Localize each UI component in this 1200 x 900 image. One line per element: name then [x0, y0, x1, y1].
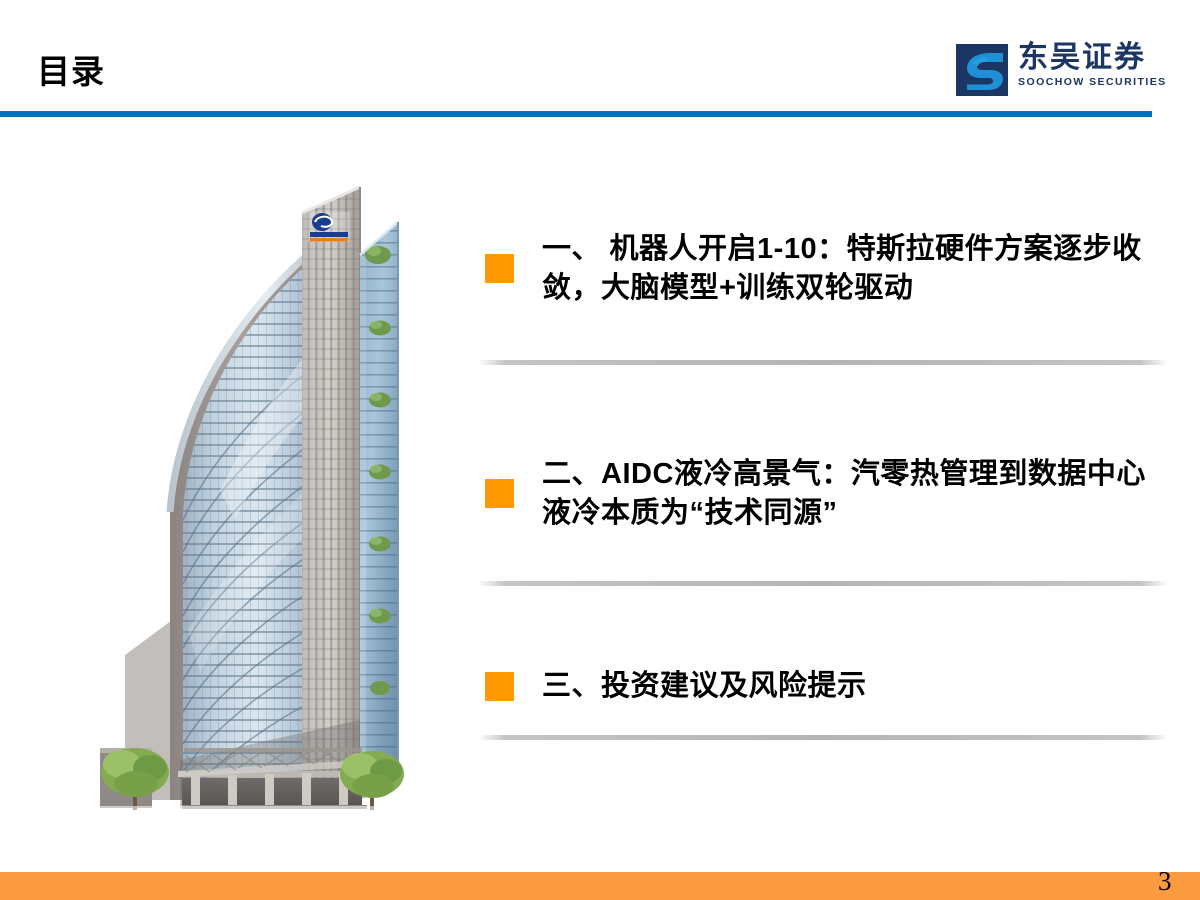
logo-english-name: SOOCHOW SECURITIES — [1018, 76, 1158, 88]
logo-chinese-name: 东吴证券 — [1018, 42, 1158, 74]
toc-item-3-label: 三、投资建议及风险提示 — [542, 669, 1170, 704]
table-of-contents: 一、 机器人开启1-10：特斯拉硬件方案逐步收敛，大脑模型+训练双轮驱动 二、A… — [470, 200, 1170, 820]
header-divider — [0, 111, 1152, 117]
toc-item-2-label: 二、AIDC液冷高景气：汽零热管理到数据中心液冷本质为“技术同源” — [542, 455, 1170, 532]
toc-item-1-divider — [478, 360, 1168, 365]
toc-item-1-label: 一、 机器人开启1-10：特斯拉硬件方案逐步收敛，大脑模型+训练双轮驱动 — [542, 230, 1170, 307]
toc-row: 二、AIDC液冷高景气：汽零热管理到数据中心液冷本质为“技术同源” — [470, 455, 1170, 532]
toc-item-3[interactable]: 三、投资建议及风险提示 — [470, 655, 1170, 717]
toc-item-3-divider — [478, 735, 1168, 740]
logo-wordmark: 东吴证券 SOOCHOW SECURITIES — [1018, 42, 1158, 88]
square-bullet-icon — [485, 672, 514, 701]
toc-row: 一、 机器人开启1-10：特斯拉硬件方案逐步收敛，大脑模型+训练双轮驱动 — [470, 230, 1170, 307]
square-bullet-icon — [485, 254, 514, 283]
square-bullet-icon — [485, 479, 514, 508]
toc-item-1[interactable]: 一、 机器人开启1-10：特斯拉硬件方案逐步收敛，大脑模型+训练双轮驱动 — [470, 230, 1170, 307]
brand-logo: 东吴证券 SOOCHOW SECURITIES — [956, 38, 1156, 102]
toc-item-2[interactable]: 二、AIDC液冷高景气：汽零热管理到数据中心液冷本质为“技术同源” — [470, 455, 1170, 532]
toc-item-2-divider — [478, 581, 1168, 586]
building-logo-sign — [308, 212, 350, 242]
slide-目录: 目录 东吴证券 SOOCHOW SECURITIES — [0, 0, 1200, 900]
footer-bar — [0, 872, 1200, 900]
soochow-securities-logo-mark-icon — [956, 44, 1008, 96]
headquarters-building-image — [60, 160, 440, 840]
toc-row: 三、投资建议及风险提示 — [470, 655, 1170, 717]
page-number: 3 — [1158, 868, 1172, 895]
page-title: 目录 — [37, 55, 105, 88]
